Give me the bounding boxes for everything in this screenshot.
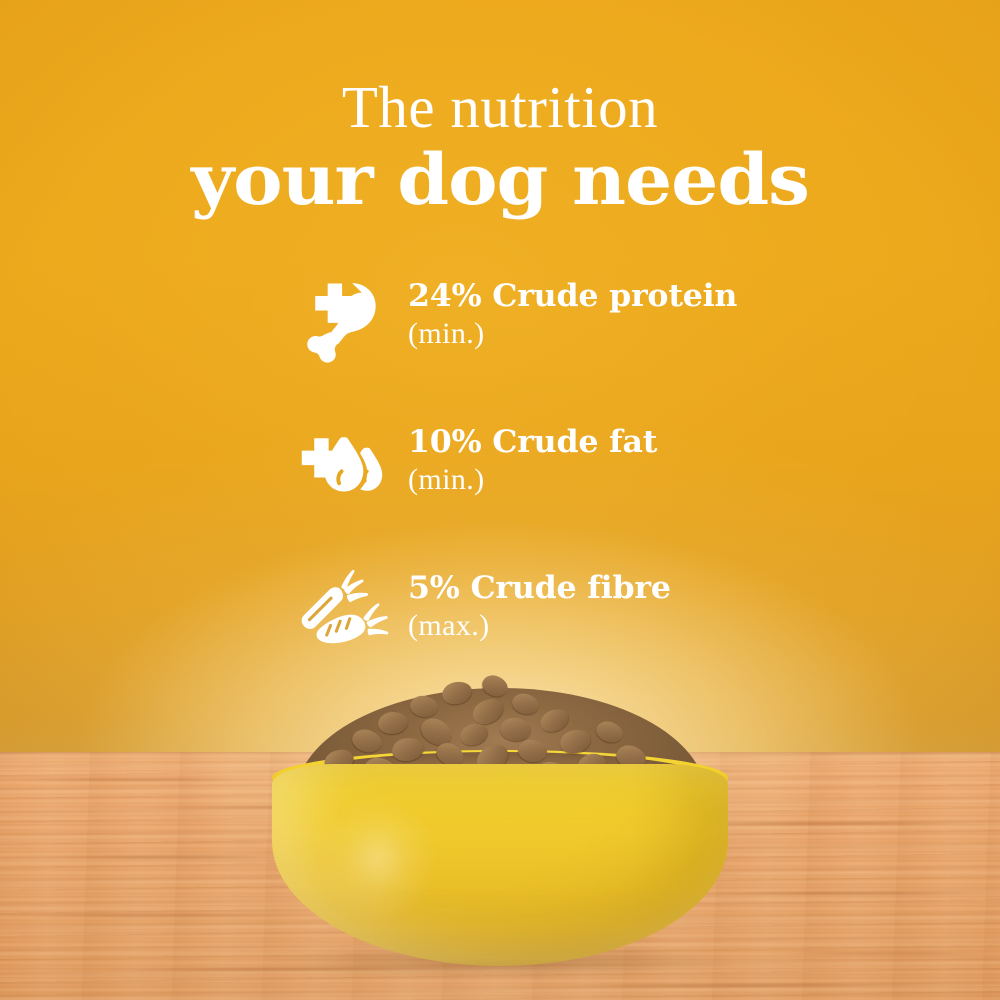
fact-row-protein: 24% Crude protein (min.) (296, 272, 856, 372)
dog-bowl-scene (260, 672, 740, 977)
fact-value-fat: 10% Crude fat (408, 424, 657, 460)
carrots-icon (296, 564, 392, 662)
fact-row-fat: 10% Crude fat (min.) (296, 418, 856, 518)
fact-row-fibre: 5% Crude fibre (max.) (296, 564, 856, 664)
title-line-2: your dog needs (0, 142, 1000, 218)
bowl-highlight (318, 794, 438, 924)
fact-note-protein: (min.) (408, 314, 731, 354)
drumstick-plus-icon (296, 272, 392, 370)
fact-note-fibre: (max.) (408, 606, 666, 646)
fact-text-fibre: 5% Crude fibre (max.) (408, 564, 666, 646)
title-line-1: The nutrition (0, 76, 1000, 138)
droplets-plus-icon (296, 418, 392, 516)
fact-value-protein: 24% Crude protein (408, 278, 737, 314)
fact-text-fat: 10% Crude fat (min.) (408, 418, 652, 500)
fact-text-protein: 24% Crude protein (min.) (408, 272, 731, 354)
fact-value-fibre: 5% Crude fibre (408, 570, 671, 606)
fact-note-fat: (min.) (408, 460, 652, 500)
nutrition-facts-list: 24% Crude protein (min.) 10% Crude (296, 272, 856, 710)
promo-graphic: The nutrition your dog needs 24% Crude p… (0, 0, 1000, 1000)
page-title: The nutrition your dog needs (0, 76, 1000, 218)
